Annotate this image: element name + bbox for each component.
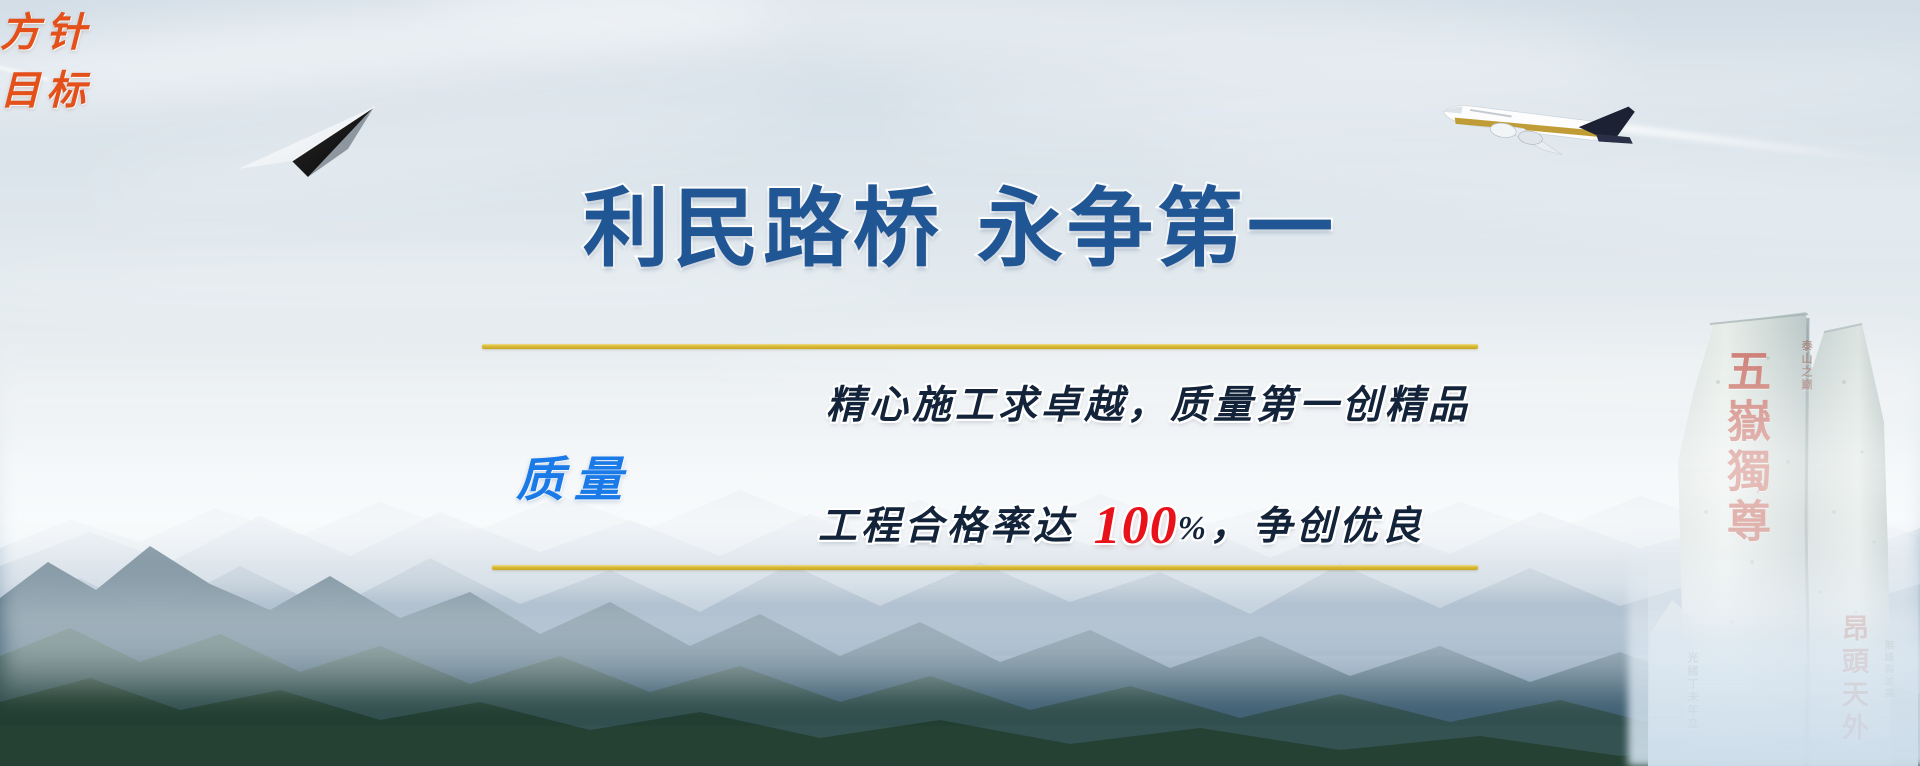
goal-sentence-before: 工程合格率达 [818,503,1094,549]
goal-sentence-after: ，争创优良 [1210,503,1425,549]
divider-bottom [492,565,1478,570]
banner-content: 利民路桥永争第一 方针 精心施工求卓越，质量第一创精品 质量 目标 工程合格率达… [0,0,1920,766]
goal-highlight-value: 100 [1094,495,1178,555]
quality-label: 质量 [516,440,632,510]
promo-banner: 五嶽獨尊 昂頭天外 泰山之巅 光緒丁未年立 無峰與並高 利民路桥永争第一 方针 … [0,0,1920,766]
goal-label: 目标 [0,58,1920,116]
headline-part-1: 利民路桥 [583,181,943,277]
percent-symbol: % [1178,510,1210,547]
divider-top [482,344,1478,349]
policy-sentence: 精心施工求卓越，质量第一创精品 [826,374,1471,430]
goal-sentence: 工程合格率达 100%，争创优良 [818,494,1425,556]
headline-part-2: 永争第一 [977,181,1337,277]
page-title: 利民路桥永争第一 [0,186,1920,272]
policy-label: 方针 [0,0,1920,58]
